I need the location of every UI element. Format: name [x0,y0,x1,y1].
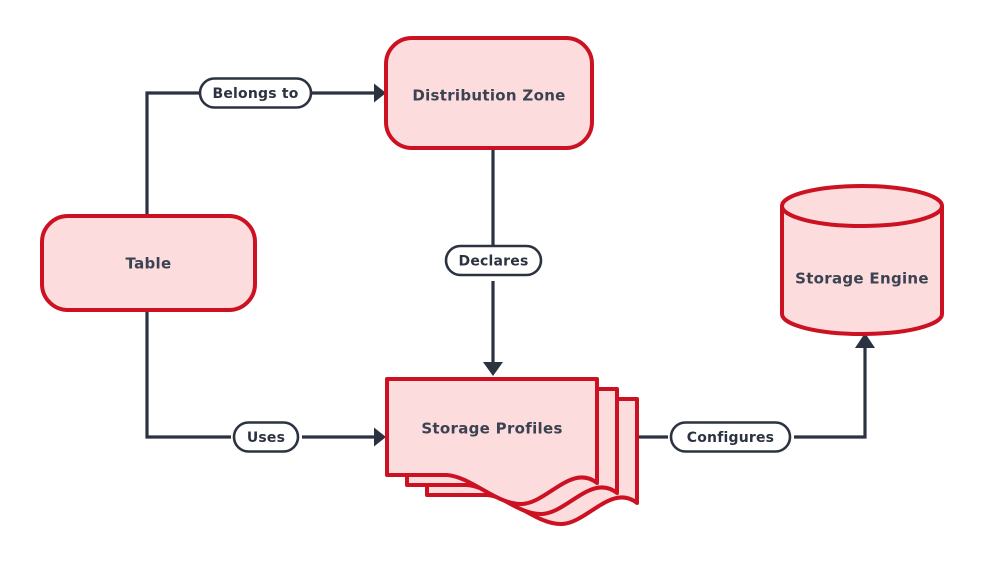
node-storage-profiles[interactable]: Storage Profiles [387,379,637,524]
edge-label-declares[interactable]: Declares [446,246,541,275]
edge-label-uses-text: Uses [247,430,285,446]
diagram-canvas: Table Distribution Zone Storage Profiles… [0,0,987,572]
edge-label-configures[interactable]: Configures [671,423,790,452]
relationship-diagram: Table Distribution Zone Storage Profiles… [0,0,987,572]
node-storage-engine-label: Storage Engine [795,270,929,288]
arrowhead-icon-uses [374,428,386,447]
edge-label-belongs-to-text: Belongs to [212,86,298,102]
edge-line-configures-right [794,348,865,437]
node-table-label: Table [126,255,172,273]
edge-label-configures-text: Configures [687,430,774,446]
edge-label-belongs-to[interactable]: Belongs to [200,79,311,108]
node-distribution-zone[interactable]: Distribution Zone [386,38,592,148]
arrowhead-icon-declares [483,362,503,376]
edge-label-declares-text: Declares [459,254,529,270]
edge-label-uses[interactable]: Uses [234,423,298,452]
node-distribution-zone-label: Distribution Zone [412,87,565,105]
node-table[interactable]: Table [42,216,255,310]
node-storage-engine[interactable]: Storage Engine [782,186,942,334]
node-storage-engine-top [782,186,942,226]
node-storage-profiles-label: Storage Profiles [421,420,562,438]
